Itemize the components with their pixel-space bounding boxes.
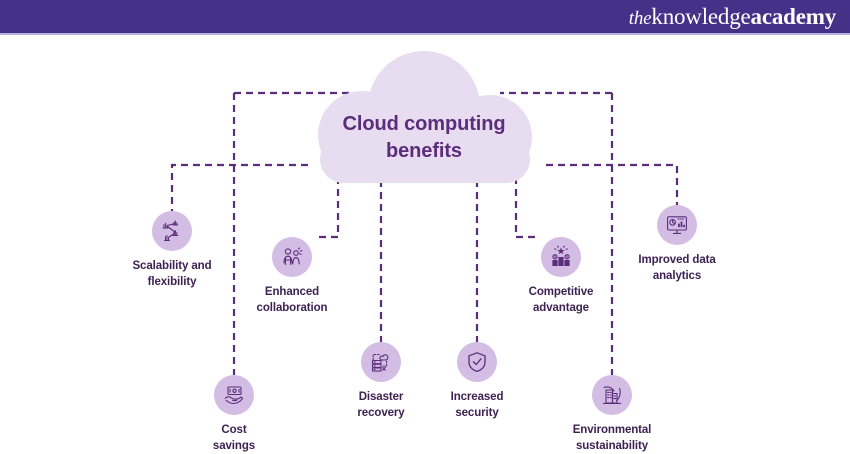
page-title: Cloud computing benefits bbox=[300, 111, 548, 165]
network-bars-icon bbox=[160, 219, 184, 243]
logo-academy: academy bbox=[751, 4, 836, 29]
cloud-title-line2: benefits bbox=[300, 138, 548, 165]
node-icon-circle bbox=[457, 342, 497, 382]
node-label: Increased security bbox=[402, 390, 552, 421]
logo-knowledge: knowledge bbox=[651, 4, 750, 29]
node-label-line2: advantage bbox=[486, 301, 636, 317]
node-label: Environmental sustainability bbox=[537, 423, 687, 454]
node-icon-circle bbox=[214, 375, 254, 415]
central-cloud: Cloud computing benefits bbox=[300, 49, 548, 187]
brand-logo: theknowledgeacademy bbox=[629, 5, 836, 28]
node-improved-data-analytics[interactable]: Improved data analytics bbox=[602, 205, 752, 284]
node-increased-security[interactable]: Increased security bbox=[402, 342, 552, 421]
node-icon-circle bbox=[657, 205, 697, 245]
node-icon-circle bbox=[272, 237, 312, 277]
connector-scalability bbox=[172, 165, 308, 211]
node-label-line1: Competitive bbox=[486, 285, 636, 301]
monitor-dashboard-icon bbox=[665, 213, 689, 237]
eco-building-icon bbox=[600, 383, 624, 407]
shield-check-icon bbox=[465, 350, 489, 374]
logo-the: the bbox=[629, 8, 652, 29]
node-label-line2: analytics bbox=[602, 269, 752, 285]
node-label: Improved data analytics bbox=[602, 253, 752, 284]
node-label: Cost savings bbox=[159, 423, 309, 454]
node-label-line2: security bbox=[402, 406, 552, 422]
header-bar: theknowledgeacademy bbox=[0, 0, 850, 33]
node-environmental-sustainability[interactable]: Environmental sustainability bbox=[537, 375, 687, 454]
people-collaboration-icon bbox=[280, 245, 304, 269]
node-label-line1: Enhanced bbox=[217, 285, 367, 301]
node-label: Competitive advantage bbox=[486, 285, 636, 316]
node-label-line1: Cost bbox=[159, 423, 309, 439]
diagram-canvas: Cloud computing benefits Scalability and bbox=[0, 35, 850, 450]
node-label-line2: collaboration bbox=[217, 301, 367, 317]
podium-star-icon bbox=[549, 245, 573, 269]
node-cost-savings[interactable]: Cost savings bbox=[159, 375, 309, 454]
node-label: Enhanced collaboration bbox=[217, 285, 367, 316]
node-label-line1: Increased bbox=[402, 390, 552, 406]
node-enhanced-collaboration[interactable]: Enhanced collaboration bbox=[217, 237, 367, 316]
node-label-line2: savings bbox=[159, 439, 309, 454]
node-icon-circle bbox=[152, 211, 192, 251]
node-icon-circle bbox=[361, 342, 401, 382]
node-label-line2: sustainability bbox=[537, 439, 687, 454]
hand-money-icon bbox=[222, 383, 246, 407]
node-label-line1: Improved data bbox=[602, 253, 752, 269]
server-cloud-icon bbox=[369, 350, 393, 374]
node-label-line1: Environmental bbox=[537, 423, 687, 439]
node-icon-circle bbox=[541, 237, 581, 277]
cloud-title-line1: Cloud computing bbox=[300, 111, 548, 138]
node-icon-circle bbox=[592, 375, 632, 415]
